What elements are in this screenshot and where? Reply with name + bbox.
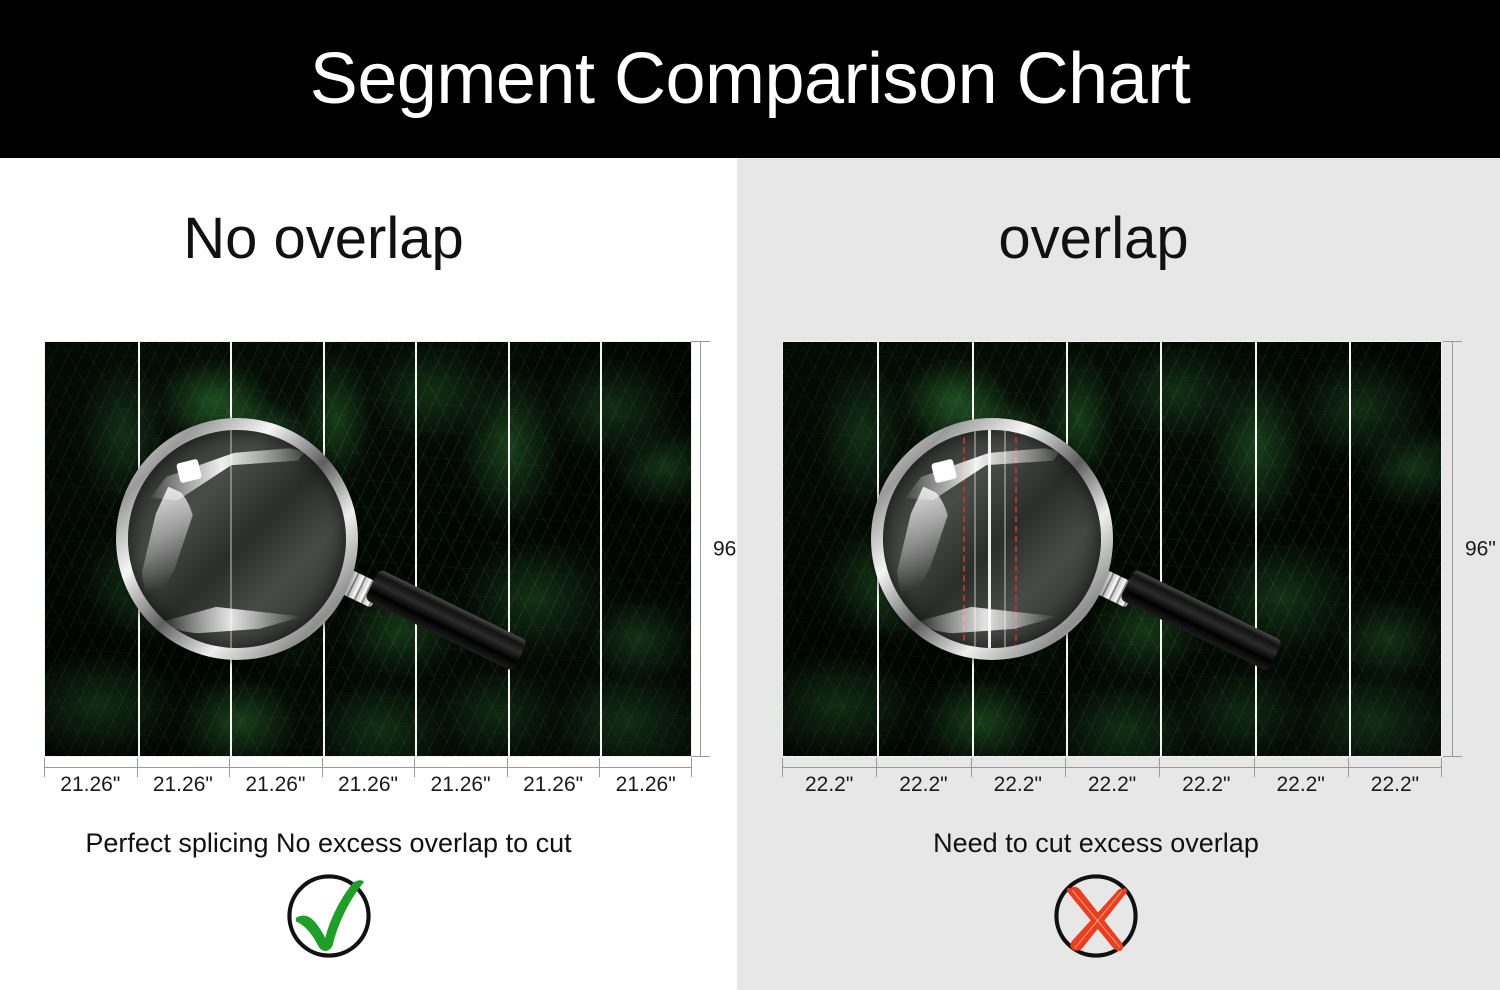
check-circle-icon: [283, 870, 375, 962]
segment-seams-right: [783, 342, 1441, 756]
segment-width-label: 22.2": [1065, 774, 1159, 795]
seam-line: [1255, 342, 1257, 756]
title-banner: Segment Comparison Chart: [0, 0, 1500, 158]
seam-line: [600, 342, 602, 756]
panel-overlap: overlap: [737, 158, 1500, 990]
dimension-tick: [1443, 341, 1462, 342]
panel-no-overlap: No overlap: [0, 158, 737, 990]
verdict-no-overlap: [0, 870, 737, 962]
segment-width-label: 22.2": [1348, 774, 1442, 795]
seam-line: [1160, 342, 1162, 756]
caption-no-overlap: Perfect splicing No excess overlap to cu…: [0, 830, 737, 857]
seam-line: [415, 342, 417, 756]
segment-width-label: 21.26": [322, 774, 415, 795]
height-label-right: 96": [1465, 539, 1496, 560]
segment-width-label: 21.26": [137, 774, 230, 795]
dimension-line: [700, 341, 701, 757]
cross-circle-icon: [1050, 870, 1142, 962]
segment-width-label: 22.2": [971, 774, 1065, 795]
segment-width-label: 22.2": [876, 774, 970, 795]
seam-line: [138, 342, 140, 756]
dimension-tick: [691, 341, 710, 342]
panel-heading-overlap: overlap: [737, 210, 1500, 268]
segment-seams-left: [45, 342, 691, 756]
width-dimension-right: 22.2" 22.2" 22.2" 22.2" 22.2" 22.2" 22.2…: [782, 767, 1442, 801]
segment-width-label: 22.2": [782, 774, 876, 795]
seam-line: [230, 342, 232, 756]
mural-image-right: [782, 341, 1442, 757]
dimension-tick: [1443, 756, 1462, 757]
mural-no-overlap: 96" 21.26" 21.26" 21.26" 21.26" 21.26" 2…: [44, 341, 692, 757]
dimension-line: [44, 767, 692, 768]
verdict-overlap: [737, 870, 1500, 962]
mural-image-left: [44, 341, 692, 757]
segment-width-label: 22.2": [1159, 774, 1253, 795]
seam-line: [877, 342, 879, 756]
dimension-tick: [691, 756, 710, 757]
segment-width-label: 21.26": [414, 774, 507, 795]
seam-line: [1066, 342, 1068, 756]
seam-line: [1349, 342, 1351, 756]
dimension-line: [1452, 341, 1453, 757]
dimension-line: [782, 767, 1442, 768]
page-title: Segment Comparison Chart: [310, 43, 1190, 115]
segment-width-label: 22.2": [1254, 774, 1348, 795]
segment-width-label: 21.26": [507, 774, 600, 795]
seam-line: [323, 342, 325, 756]
seam-line: [508, 342, 510, 756]
width-dimension-left: 21.26" 21.26" 21.26" 21.26" 21.26" 21.26…: [44, 767, 692, 801]
mural-overlap: 96" 22.2" 22.2" 22.2" 22.2" 22.2" 22.2": [782, 341, 1442, 757]
seam-line: [972, 342, 974, 756]
segment-width-label: 21.26": [599, 774, 692, 795]
segment-width-label: 21.26": [229, 774, 322, 795]
panel-heading-no-overlap: No overlap: [0, 210, 737, 268]
comparison-panels: No overlap: [0, 158, 1500, 990]
caption-overlap: Need to cut excess overlap: [737, 830, 1500, 857]
segment-width-label: 21.26": [44, 774, 137, 795]
